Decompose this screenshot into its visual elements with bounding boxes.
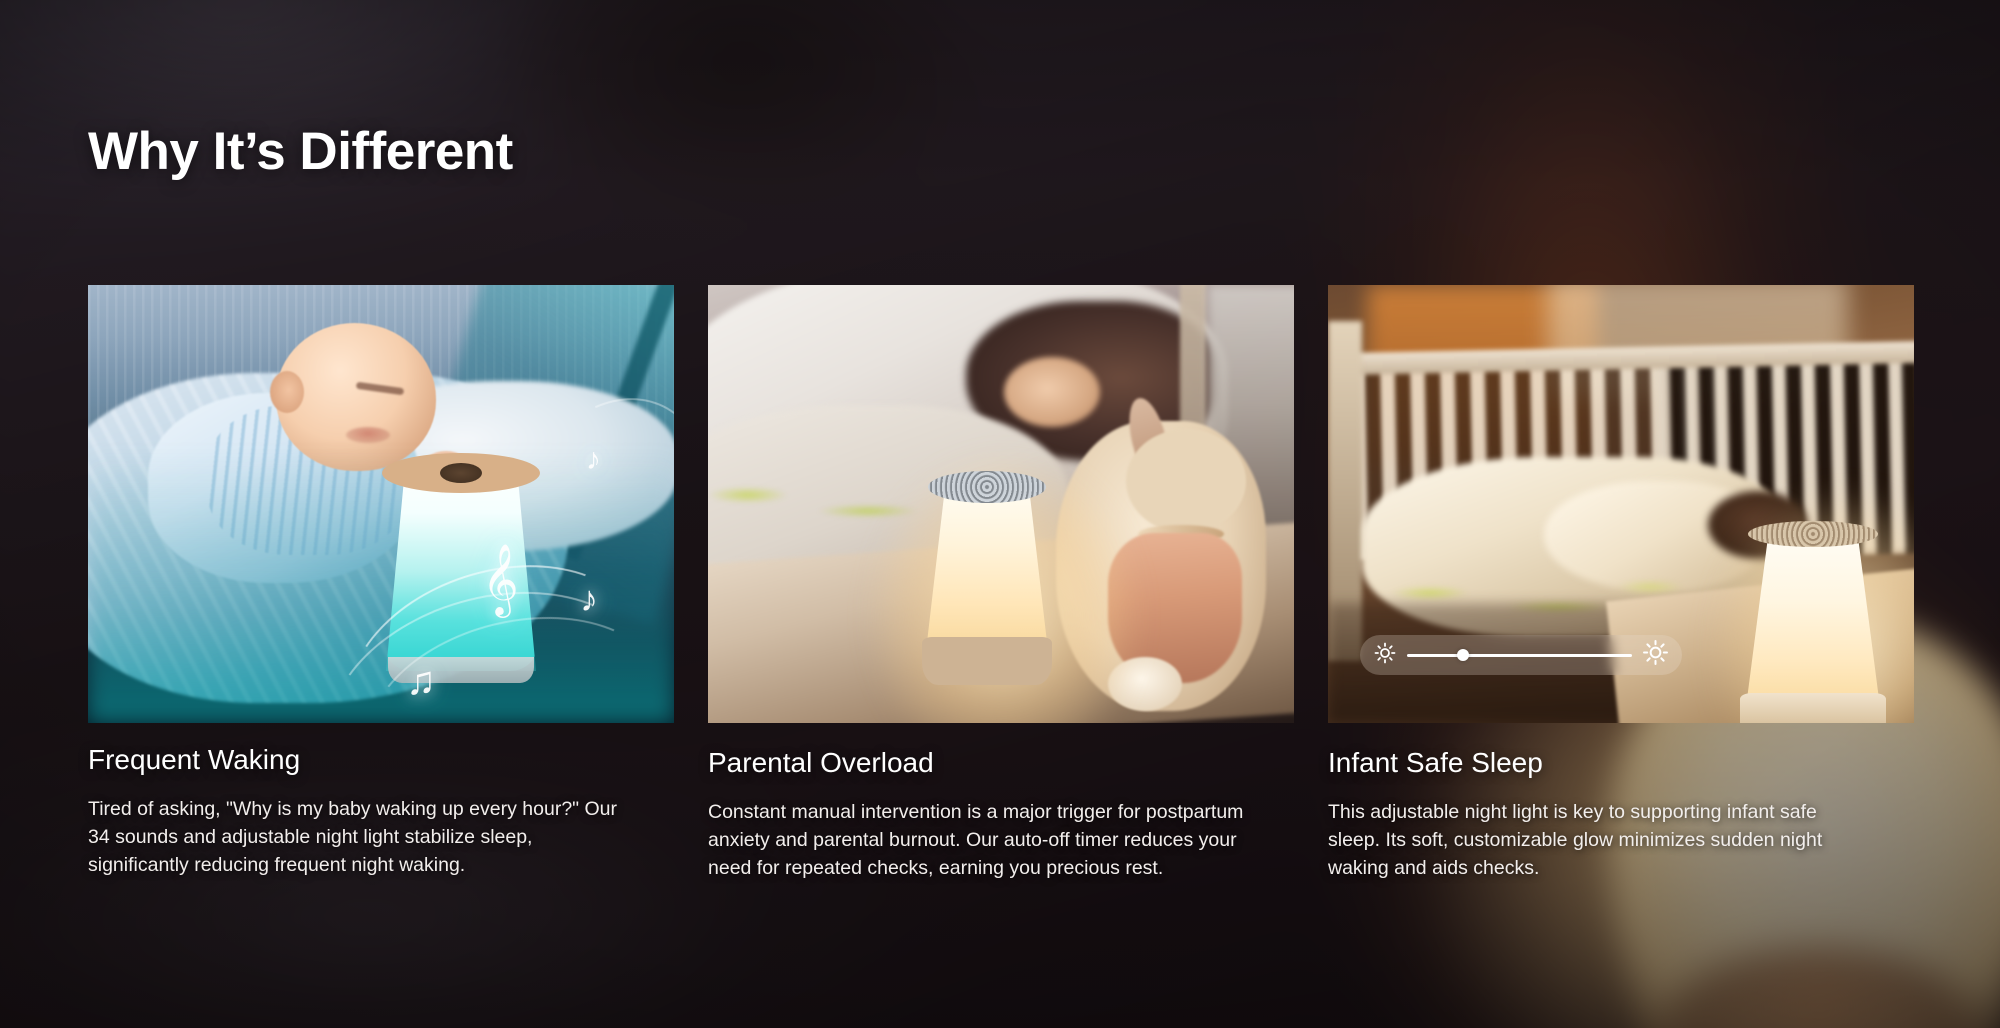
baby-mouth [346,427,390,443]
sound-machine-center-port [440,463,482,483]
plush-bunny-head [1126,429,1246,533]
music-note-icon: ♪ [580,581,598,617]
night-light-speaker-grille [928,471,1046,503]
why-its-different-section: Why It’s Different [0,0,2000,1028]
brightness-slider-track[interactable] [1407,654,1632,657]
night-light-speaker-grille [1748,521,1878,547]
feature-card-infant-safe-sleep: Infant Safe Sleep This adjustable night … [1328,285,1914,882]
sun-bright-icon [1642,639,1669,671]
card-title-parental-overload: Parental Overload [708,723,1294,779]
baby-ear [270,371,304,413]
treble-clef-icon: 𝄞 [482,549,519,611]
card-image-parental-overload [708,285,1294,723]
night-light-base [1740,693,1886,723]
sun-dim-icon [1373,641,1397,670]
card-body-parental-overload: Constant manual intervention is a major … [708,779,1248,882]
card-image-infant-safe-sleep [1328,285,1914,723]
music-note-icon: ♫ [406,661,436,701]
feature-card-parental-overload: Parental Overload Constant manual interv… [708,285,1294,882]
card-body-infant-safe-sleep: This adjustable night light is key to su… [1328,779,1868,882]
page-title: Why It’s Different [88,125,513,178]
feature-card-grid: 𝄞 ♪ ♪ ♫ Frequent Waking Tired of asking,… [88,285,1912,882]
music-note-icon: ♪ [586,445,601,475]
card-body-frequent-waking: Tired of asking, "Why is my baby waking … [88,776,628,879]
brightness-slider[interactable] [1360,635,1682,675]
feature-card-frequent-waking: 𝄞 ♪ ♪ ♫ Frequent Waking Tired of asking,… [88,285,674,882]
night-light-body [926,483,1048,651]
night-light-base [922,637,1052,685]
card-image-frequent-waking: 𝄞 ♪ ♪ ♫ [88,285,674,723]
card-title-frequent-waking: Frequent Waking [88,723,674,776]
brightness-slider-handle[interactable] [1457,649,1469,661]
parent-face [1004,357,1100,427]
card-title-infant-safe-sleep: Infant Safe Sleep [1328,723,1914,779]
night-light-body [1746,531,1880,707]
